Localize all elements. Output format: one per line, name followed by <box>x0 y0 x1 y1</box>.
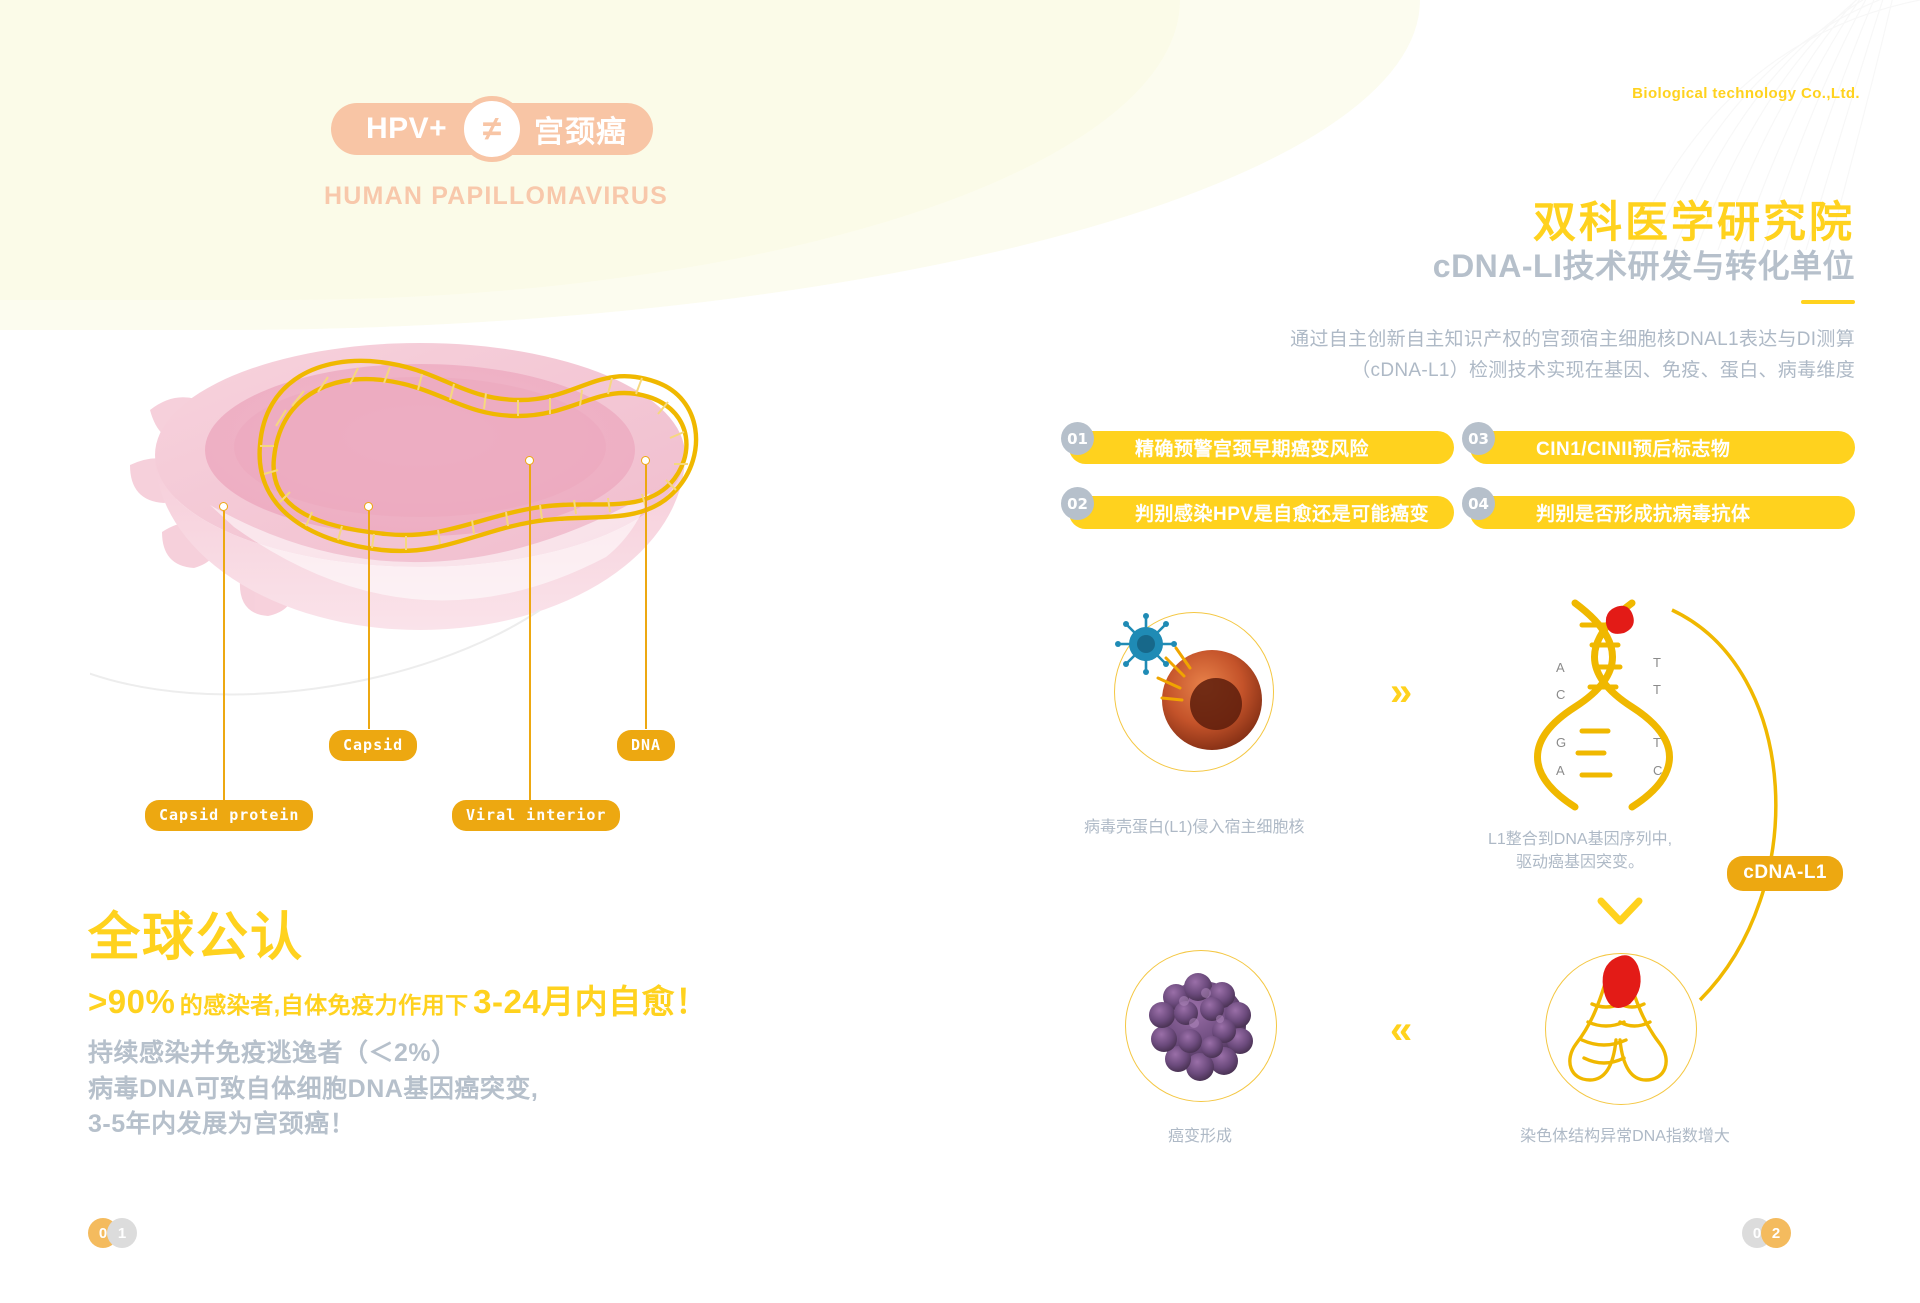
persistent-infection-copy: 持续感染并免疫逃逸者（＜2%） 病毒DNA可致自体细胞DNA基因癌突变, 3-5… <box>88 1036 538 1143</box>
hpv-subtitle: HUMAN PAPILLOMAVIRUS <box>306 182 686 211</box>
page-footer-right-digit-2: 2 <box>1761 1218 1791 1248</box>
leader-dot-capsid <box>364 502 373 511</box>
label-viral-interior: Viral interior <box>452 800 620 831</box>
chevron-left-icon: « <box>1390 1010 1412 1050</box>
institute-desc-line-2: （cDNA-L1）检测技术实现在基因、免疫、蛋白、病毒维度 <box>1290 356 1855 387</box>
global-recognition-title: 全球公认 <box>88 895 304 970</box>
hpv-badge: HPV+ ≠ 宫颈癌 <box>331 103 653 155</box>
feature-label-01: 精确预警宫颈早期癌变风险 <box>1135 434 1369 461</box>
company-name: Biological technology Co.,Ltd. <box>1632 85 1860 102</box>
page-footer-left-digit-2: 1 <box>107 1218 137 1248</box>
feature-pill-02[interactable]: 02 判别感染HPV是自愈还是可能癌变 <box>1069 496 1454 529</box>
label-capsid-protein: Capsid protein <box>145 800 313 831</box>
feature-label-03: CIN1/CINII预后标志物 <box>1536 434 1730 461</box>
feature-label-04: 判别是否形成抗病毒抗体 <box>1536 499 1751 526</box>
feature-number-02: 02 <box>1061 487 1094 520</box>
hpv-badge-left-label: HPV+ <box>366 112 447 146</box>
hpv-virion-icon <box>1115 613 1177 675</box>
virus-illustration <box>90 250 890 710</box>
cdna-l1-badge: cDNA-L1 <box>1727 856 1843 891</box>
feature-pill-04[interactable]: 04 判别是否形成抗病毒抗体 <box>1470 496 1855 529</box>
page-footer-left: 0 1 <box>88 1218 137 1248</box>
base-left-2: C <box>1556 687 1565 702</box>
global-stat-end: 3-24月内自愈！ <box>473 983 709 1020</box>
hpv-badge-right-label: 宫颈癌 <box>534 107 627 151</box>
global-stat-percent: >90% <box>88 983 175 1020</box>
leader-line-capsid <box>368 511 370 729</box>
feature-number-01: 01 <box>1061 422 1094 455</box>
chevron-down-icon <box>1595 895 1645 931</box>
feature-pill-01[interactable]: 01 精确预警宫颈早期癌变风险 <box>1069 431 1454 464</box>
institute-desc-line-1: 通过自主创新自主知识产权的宫颈宿主细胞核DNAL1表达与DI测算 <box>1290 325 1855 356</box>
leader-line-dna <box>645 465 647 729</box>
gray-copy-line-2: 病毒DNA可致自体细胞DNA基因癌突变, <box>88 1072 538 1108</box>
feature-label-02: 判别感染HPV是自愈还是可能癌变 <box>1135 499 1429 526</box>
gray-copy-line-1: 持续感染并免疫逃逸者（＜2%） <box>88 1036 538 1072</box>
institute-divider <box>1801 300 1855 304</box>
chevron-right-icon: » <box>1390 672 1412 712</box>
process-step-3-caption: 染色体结构异常DNA指数增大 <box>1480 1125 1770 1148</box>
not-equal-icon: ≠ <box>459 96 525 162</box>
process-step-4-tumour <box>1128 953 1278 1103</box>
process-step-1-illustration <box>1104 600 1304 800</box>
leader-dot-viral-interior <box>525 456 534 465</box>
infographic-page: HPV+ ≠ 宫颈癌 HUMAN PAPILLOMAVIRUS Biologic… <box>0 0 1920 1303</box>
institute-subtitle: cDNA-LI技术研发与转化单位 <box>1433 241 1855 287</box>
base-left-1: A <box>1556 660 1565 675</box>
base-left-3: G <box>1556 735 1566 750</box>
process-step-3-chromosome <box>1550 948 1700 1113</box>
leader-line-viral-interior <box>529 465 531 808</box>
global-stat-middle: 的感染者,自体免疫力作用下 <box>180 992 469 1018</box>
base-left-4: A <box>1556 763 1565 778</box>
leader-line-capsid-protein <box>223 511 225 808</box>
feature-pill-03[interactable]: 03 CIN1/CINII预后标志物 <box>1470 431 1855 464</box>
leader-dot-capsid-protein <box>219 502 228 511</box>
process-step-1-caption: 病毒壳蛋白(L1)侵入宿主细胞核 <box>1084 816 1304 839</box>
label-capsid: Capsid <box>329 730 417 761</box>
gray-copy-line-3: 3-5年内发展为宫颈癌！ <box>88 1107 538 1143</box>
process-step-4-caption: 癌变形成 <box>1110 1125 1290 1148</box>
institute-description: 通过自主创新自主知识产权的宫颈宿主细胞核DNAL1表达与DI测算 （cDNA-L… <box>1290 325 1855 387</box>
global-stat-line: >90% 的感染者,自体免疫力作用下 3-24月内自愈！ <box>88 975 709 1023</box>
leader-dot-dna <box>641 456 650 465</box>
feature-number-04: 04 <box>1462 487 1495 520</box>
feature-number-03: 03 <box>1462 422 1495 455</box>
page-footer-right: 0 2 <box>1742 1218 1791 1248</box>
mutation-marker-icon <box>1606 606 1634 634</box>
label-dna: DNA <box>617 730 675 761</box>
